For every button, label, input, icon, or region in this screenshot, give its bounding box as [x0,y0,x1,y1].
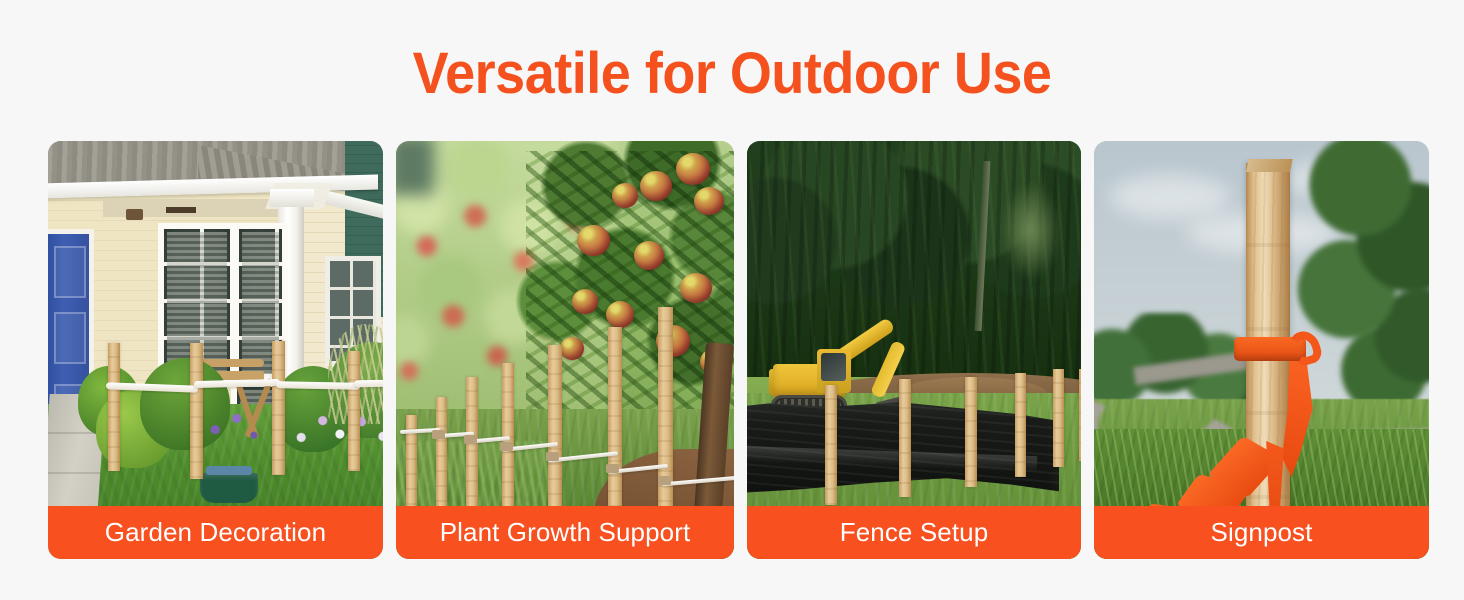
apple-fruit [680,273,712,303]
porch-column-capital [270,189,314,207]
card-label-plant-growth-support: Plant Growth Support [396,506,734,559]
excavator-windshield [821,353,846,381]
apple-fruit [577,225,610,256]
signpost-photo [1094,141,1429,559]
wire-clip [606,464,619,473]
wooden-stake [1053,369,1064,467]
garden-cart [200,473,258,503]
feature-card-signpost[interactable]: Signpost [1094,141,1429,559]
plant-growth-support-photo [396,141,734,559]
card-label-garden-decoration: Garden Decoration [48,506,383,559]
apple-fruit [572,289,598,314]
promo-banner: Versatile for Outdoor Use [0,0,1464,600]
apple-fruit [612,183,638,208]
feature-card-plant-growth-support[interactable]: Plant Growth Support [396,141,734,559]
wire-clip [432,430,445,439]
feature-card-fence-setup[interactable]: Fence Setup [747,141,1081,559]
page-title: Versatile for Outdoor Use [51,38,1413,110]
wire-clip [464,435,477,444]
card-label-signpost: Signpost [1094,506,1429,559]
wire-clip [500,442,513,451]
porch-light [126,209,143,220]
apple-fruit [676,153,710,185]
background-shadow [396,141,434,195]
wooden-stake [108,343,120,471]
feature-card-grid: Garden Decoration [48,141,1420,559]
wire-clip [658,476,671,485]
forest-light-gap [1001,181,1061,281]
wooden-stake [899,379,911,497]
apple-fruit [606,301,634,328]
garden-decoration-photo [48,141,383,559]
apple-fruit [560,337,584,360]
wooden-stake [825,385,837,505]
stake-top-face [1246,159,1293,172]
wooden-stake [965,377,977,487]
apple-fruit [694,187,724,215]
fence-setup-photo [747,141,1081,559]
feature-card-garden-decoration[interactable]: Garden Decoration [48,141,383,559]
wooden-stake [348,351,360,471]
wooden-stake [272,341,285,475]
flower-bed [78,334,383,454]
apple-fruit [634,241,664,270]
wooden-stake [190,343,203,479]
porch-beam-shadow [166,207,196,213]
tree-right [1289,141,1429,411]
card-label-fence-setup: Fence Setup [747,506,1081,559]
grass-undergrowth [396,441,560,511]
wooden-stake [1015,373,1026,477]
cloud [1110,175,1230,219]
wooden-stake [1079,369,1081,461]
white-rope-span [354,380,383,388]
apple-fruit [640,171,672,201]
wire-clip [546,452,559,461]
